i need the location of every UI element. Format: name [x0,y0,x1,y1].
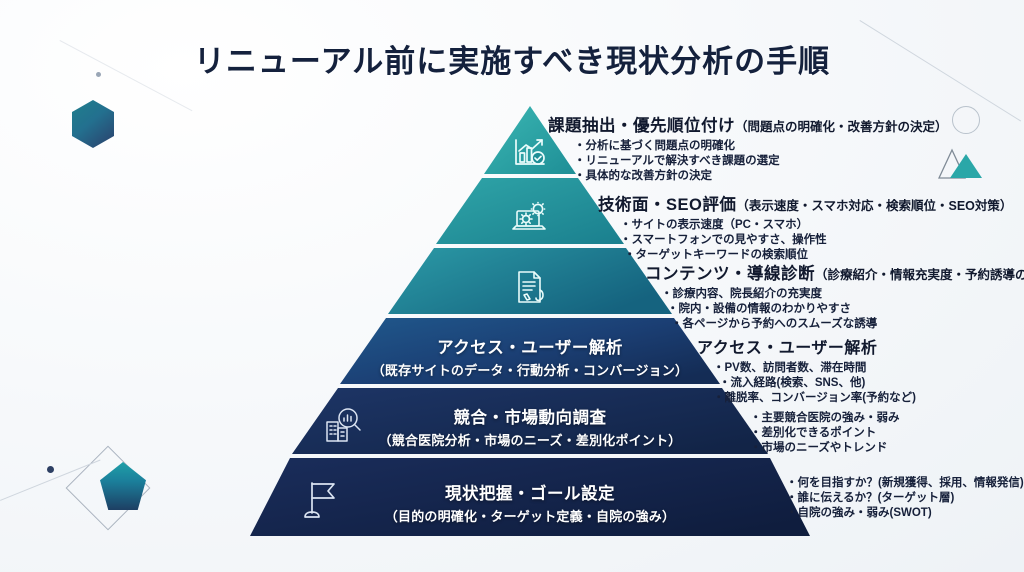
hexagon-cube-icon [72,100,114,148]
list-item: ・何を目指すか？(新規獲得、採用、情報発信) [786,476,1024,491]
pentagon-icon [100,462,146,510]
callout-2-head: 技術面・SEO評価（表示速度・スマホ対応・検索順位・SEO対策） [598,191,1012,215]
callout-1-head: 課題抽出・優先順位付け（問題点の明確化・改善方針の決定） [548,112,948,136]
list-item: ・差別化できるポイント [750,426,900,441]
callout-5-bullets: ・主要競合医院の強み・弱み ・差別化できるポイント ・市場のニーズやトレンド [750,411,900,456]
list-item: ・主要競合医院の強み・弱み [750,411,900,426]
dot-icon [47,466,54,473]
diamond-outline-icon [66,446,151,531]
list-item: ・診療内容、院長紹介の充実度 [661,287,1024,302]
callout-tier-1: 課題抽出・優先順位付け（問題点の明確化・改善方針の決定） ・分析に基づく問題点の… [548,112,948,184]
callout-2-subtitle: （表示速度・スマホ対応・検索順位・SEO対策） [736,199,1012,213]
callout-tier-4: アクセス・ユーザー解析 ・PV数、訪問者数、滞在時間 ・流入経路(検索、SNS、… [697,334,916,406]
list-item: ・自院の強み・弱み(SWOT) [786,506,1024,521]
list-item: ・離脱率、コンバージョン率(予約など) [713,391,916,406]
callout-4-title: アクセス・ユーザー解析 [697,340,877,357]
page-title: リニューアル前に実施すべき現状分析の手順 [0,36,1024,81]
callout-4-bullets: ・PV数、訪問者数、滞在時間 ・流入経路(検索、SNS、他) ・離脱率、コンバー… [697,361,916,406]
tier-5-inside-label: 競合・市場動向調査 （競合医院分析・市場のニーズ・差別化ポイント） [220,404,840,449]
tier-6-subheading: （目的の明確化・ターゲット定義・自院の強み） [220,506,840,525]
document-pen-icon [508,266,552,310]
tier-6-inside-label: 現状把握・ゴール設定 （目的の明確化・ターゲット定義・自院の強み） [220,480,840,525]
callout-2-bullets: ・サイトの表示速度（PC・スマホ） ・スマートフォンでの見やすさ、操作性 ・ター… [598,218,1012,263]
callout-1-title: 課題抽出・優先順位付け [548,117,735,135]
callout-1-subtitle: （問題点の明確化・改善方針の決定） [735,120,948,134]
tier-6-heading: 現状把握・ゴール設定 [220,480,840,504]
tier-5-heading: 競合・市場動向調査 [220,404,840,428]
callout-4-head: アクセス・ユーザー解析 [697,334,916,358]
callout-2-title: 技術面・SEO評価 [598,196,736,214]
callout-tier-5: ・主要競合医院の強み・弱み ・差別化できるポイント ・市場のニーズやトレンド [750,408,900,456]
callout-tier-2: 技術面・SEO評価（表示速度・スマホ対応・検索順位・SEO対策） ・サイトの表示… [598,191,1012,263]
hairline-decor [0,460,101,501]
circle-outline-icon [952,106,980,134]
list-item: ・具体的な改善方針の決定 [574,169,948,184]
list-item: ・リニューアルで解決すべき課題の選定 [574,154,948,169]
callout-1-bullets: ・分析に基づく問題点の明確化 ・リニューアルで解決すべき課題の選定 ・具体的な改… [548,139,948,184]
list-item: ・分析に基づく問題点の明確化 [574,139,948,154]
callout-tier-6: ・何を目指すか？(新規獲得、採用、情報発信) ・誰に伝えるか？(ターゲット層) … [786,473,1024,521]
list-item: ・誰に伝えるか？(ターゲット層) [786,491,1024,506]
callout-3-title: コンテンツ・導線診断 [645,265,815,283]
callout-3-subtitle: （診療紹介・情報充実度・予約誘導の評価） [815,268,1024,282]
list-item: ・スマートフォンでの見やすさ、操作性 [620,233,1012,248]
slide-canvas: リニューアル前に実施すべき現状分析の手順 [0,0,1024,572]
tier-5-subheading: （競合医院分析・市場のニーズ・差別化ポイント） [220,430,840,449]
callout-3-bullets: ・診療内容、院長紹介の充実度 ・院内・設備の情報のわかりやすさ ・各ページから予… [645,287,1024,332]
list-item: ・各ページから予約へのスムーズな誘導 [671,317,1024,332]
list-item: ・PV数、訪問者数、滞在時間 [713,361,916,376]
list-item: ・院内・設備の情報のわかりやすさ [667,302,1024,317]
callout-6-bullets: ・何を目指すか？(新規獲得、採用、情報発信) ・誰に伝えるか？(ターゲット層) … [786,476,1024,521]
laptop-gears-icon [508,196,552,240]
pyramid-tier-6[interactable]: 現状把握・ゴール設定 （目的の明確化・ターゲット定義・自院の強み） [220,456,840,542]
list-item: ・サイトの表示速度（PC・スマホ） [620,218,1012,233]
chart-growth-check-icon [508,132,552,172]
list-item: ・流入経路(検索、SNS、他) [719,376,916,391]
callout-3-head: コンテンツ・導線診断（診療紹介・情報充実度・予約誘導の評価） [645,260,1024,284]
callout-tier-3: コンテンツ・導線診断（診療紹介・情報充実度・予約誘導の評価） ・診療内容、院長紹… [645,260,1024,332]
list-item: ・市場のニーズやトレンド [750,441,900,456]
